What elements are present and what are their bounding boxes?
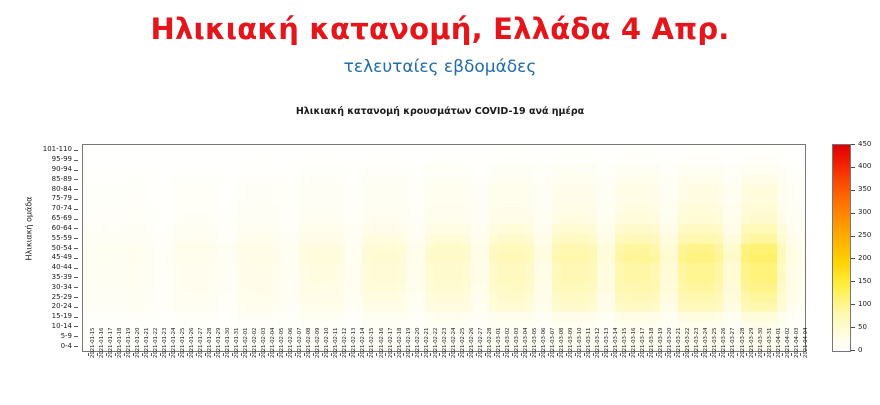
y-axis-tick-label: 65-69 [52, 215, 72, 222]
x-axis-tick [602, 353, 603, 356]
colorbar-tick-label: 200 [858, 255, 871, 262]
x-axis-tick-label: 2021-02-20 [415, 328, 421, 358]
x-axis-tick-label: 2021-01-27 [198, 328, 204, 358]
x-axis-tick [205, 353, 206, 356]
x-axis-tick [449, 353, 450, 356]
y-axis-tick-label: 5-9 [61, 333, 72, 340]
x-axis-tick-label: 2021-04-01 [776, 328, 782, 358]
y-axis-tick-label: 35-39 [52, 274, 72, 281]
x-axis-tick [304, 353, 305, 356]
y-axis-tick [74, 307, 78, 308]
colorbar-tick [851, 236, 855, 237]
x-axis-tick [521, 353, 522, 356]
x-axis-tick-label: 2021-01-24 [171, 328, 177, 358]
x-axis-tick [187, 353, 188, 356]
x-axis-tick [124, 353, 125, 356]
y-axis-tick [74, 160, 78, 161]
colorbar-tick-label: 100 [858, 301, 871, 308]
x-axis-tick [503, 353, 504, 356]
y-axis-tick [74, 209, 78, 210]
heatmap-figure: Ηλικιακή κατανομή κρουσμάτων COVID-19 αν… [0, 92, 880, 405]
y-axis-tick [74, 277, 78, 278]
colorbar-tick [851, 281, 855, 282]
x-axis-tick-label: 2021-02-22 [433, 328, 439, 358]
x-axis-tick [494, 353, 495, 356]
x-axis-tick-label: 2021-03-21 [676, 328, 682, 358]
x-axis-tick-label: 2021-03-12 [595, 328, 601, 358]
colorbar-tick [851, 327, 855, 328]
x-axis-tick-label: 2021-02-13 [351, 328, 357, 358]
colorbar-ticks: 050100150200250300350400450 [832, 144, 880, 352]
x-axis-tick-label: 2021-02-28 [487, 328, 493, 358]
x-axis-tick [629, 353, 630, 356]
x-axis-tick-label: 2021-01-20 [135, 328, 141, 358]
x-axis-tick [467, 353, 468, 356]
x-axis-tick-label: 2021-03-01 [496, 328, 502, 358]
colorbar-tick-label: 250 [858, 232, 871, 239]
colorbar-tick-label: 300 [858, 209, 871, 216]
colorbar-tick [851, 144, 855, 145]
x-axis-tick [800, 353, 801, 356]
x-axis-tick-label: 2021-03-13 [604, 328, 610, 358]
x-axis-tick-label: 2021-03-09 [568, 328, 574, 358]
y-axis-tick-label: 80-84 [52, 186, 72, 193]
colorbar-tick [851, 304, 855, 305]
x-axis-tick [439, 353, 440, 356]
x-axis-tick-label: 2021-01-25 [180, 328, 186, 358]
y-axis-tick-label: 70-74 [52, 205, 72, 212]
x-axis-tick-label: 2021-01-19 [126, 328, 132, 358]
y-axis-tick-label: 40-44 [52, 264, 72, 271]
x-axis-tick [620, 353, 621, 356]
y-axis-tick-label: 15-19 [52, 313, 72, 320]
x-axis-tick [394, 353, 395, 356]
x-axis-tick [746, 353, 747, 356]
x-axis-tick-label: 2021-02-17 [388, 328, 394, 358]
x-axis-tick-label: 2021-01-23 [162, 328, 168, 358]
x-axis-tick-label: 2021-02-26 [469, 328, 475, 358]
y-axis-tick [74, 150, 78, 151]
x-axis-tick-label: 2021-03-27 [730, 328, 736, 358]
x-axis-tick [241, 353, 242, 356]
x-axis-tick [674, 353, 675, 356]
colorbar-tick-label: 400 [858, 163, 871, 170]
y-axis-labels: 0-45-910-1415-1920-2425-2930-3435-3940-4… [0, 144, 78, 352]
y-axis-tick [74, 317, 78, 318]
colorbar-tick-label: 450 [858, 141, 871, 148]
x-axis-tick-label: 2021-03-04 [523, 328, 529, 358]
y-axis-tick [74, 248, 78, 249]
x-axis-tick-label: 2021-01-18 [117, 328, 123, 358]
x-axis-tick [638, 353, 639, 356]
colorbar-tick-label: 0 [858, 347, 862, 354]
x-axis-tick-label: 2021-03-16 [631, 328, 637, 358]
x-axis-tick [196, 353, 197, 356]
x-axis-tick-label: 2021-03-11 [586, 328, 592, 358]
y-axis-tick-label: 95-99 [52, 156, 72, 163]
x-axis-tick [151, 353, 152, 356]
x-axis-tick-label: 2021-03-19 [658, 328, 664, 358]
x-axis-tick-label: 2021-01-15 [90, 328, 96, 358]
x-axis-tick-label: 2021-02-25 [460, 328, 466, 358]
x-axis-tick [259, 353, 260, 356]
x-axis-tick [791, 353, 792, 356]
x-axis-tick-label: 2021-01-31 [234, 328, 240, 358]
x-axis-tick [412, 353, 413, 356]
x-axis-tick-label: 2021-02-07 [297, 328, 303, 358]
y-axis-tick-label: 0-4 [61, 343, 72, 350]
x-axis-tick [593, 353, 594, 356]
y-axis-tick [74, 258, 78, 259]
x-axis-tick [403, 353, 404, 356]
x-axis-tick-label: 2021-01-22 [153, 328, 159, 358]
x-axis-tick-label: 2021-02-04 [270, 328, 276, 358]
y-axis-tick [74, 346, 78, 347]
x-axis-tick-label: 2021-03-29 [749, 328, 755, 358]
x-axis-tick [530, 353, 531, 356]
chart-title: Ηλικιακή κατανομή κρουσμάτων COVID-19 αν… [0, 106, 880, 117]
x-axis-tick-label: 2021-03-18 [649, 328, 655, 358]
x-axis-tick [88, 353, 89, 356]
x-axis-tick-label: 2021-03-28 [740, 328, 746, 358]
x-axis-tick [295, 353, 296, 356]
x-axis-tick [773, 353, 774, 356]
x-axis-tick [557, 353, 558, 356]
colorbar-tick-label: 350 [858, 186, 871, 193]
x-axis-tick [485, 353, 486, 356]
x-axis-tick [97, 353, 98, 356]
x-axis-tick-label: 2021-02-14 [360, 328, 366, 358]
x-axis-tick [277, 353, 278, 356]
y-axis-tick-label: 50-54 [52, 245, 72, 252]
x-axis-tick-label: 2021-02-21 [424, 328, 430, 358]
x-axis-tick [647, 353, 648, 356]
x-axis-tick-label: 2021-01-16 [99, 328, 105, 358]
colorbar-tick [851, 213, 855, 214]
x-axis-tick-label: 2021-01-29 [216, 328, 222, 358]
x-axis-tick [133, 353, 134, 356]
x-axis-tick [421, 353, 422, 356]
x-axis-tick [232, 353, 233, 356]
x-axis-tick [223, 353, 224, 356]
x-axis-tick-label: 2021-01-30 [225, 328, 231, 358]
colorbar-tick-label: 50 [858, 324, 867, 331]
y-axis-tick-label: 45-49 [52, 254, 72, 261]
y-axis-tick-label: 85-89 [52, 176, 72, 183]
x-axis-tick-label: 2021-03-15 [622, 328, 628, 358]
x-axis-tick [385, 353, 386, 356]
x-axis-tick [169, 353, 170, 356]
x-axis-tick-label: 2021-03-08 [559, 328, 565, 358]
x-axis-tick-label: 2021-03-07 [550, 328, 556, 358]
x-axis-tick-label: 2021-04-02 [785, 328, 791, 358]
x-axis-tick-label: 2021-02-08 [306, 328, 312, 358]
x-axis-tick-label: 2021-02-18 [397, 328, 403, 358]
x-axis-tick-label: 2021-04-03 [794, 328, 800, 358]
x-axis-tick-label: 2021-03-26 [721, 328, 727, 358]
x-axis-labels: 2021-01-152021-01-162021-01-172021-01-18… [82, 353, 806, 405]
y-axis-tick-label: 90-94 [52, 166, 72, 173]
x-axis-tick-label: 2021-03-30 [758, 328, 764, 358]
y-axis-tick [74, 336, 78, 337]
y-axis-tick-label: 101-110 [43, 146, 72, 153]
x-axis-tick [430, 353, 431, 356]
y-axis-tick [74, 287, 78, 288]
y-axis-tick [74, 199, 78, 200]
x-axis-tick-label: 2021-02-24 [451, 328, 457, 358]
x-axis-tick-label: 2021-02-19 [406, 328, 412, 358]
heatmap-canvas [83, 145, 805, 351]
x-axis-tick-label: 2021-03-10 [577, 328, 583, 358]
x-axis-tick-label: 2021-02-01 [243, 328, 249, 358]
x-axis-tick [313, 353, 314, 356]
x-axis-tick-label: 2021-01-28 [207, 328, 213, 358]
x-axis-tick-label: 2021-03-17 [640, 328, 646, 358]
x-axis-tick [322, 353, 323, 356]
x-axis-tick [566, 353, 567, 356]
x-axis-tick-label: 2021-04-04 [803, 328, 809, 358]
x-axis-tick-label: 2021-03-23 [694, 328, 700, 358]
x-axis-tick [142, 353, 143, 356]
x-axis-tick [512, 353, 513, 356]
x-axis-tick [755, 353, 756, 356]
y-axis-tick-label: 30-34 [52, 284, 72, 291]
colorbar-tick [851, 167, 855, 168]
colorbar-tick [851, 258, 855, 259]
x-axis-tick-label: 2021-02-15 [369, 328, 375, 358]
x-axis-tick [250, 353, 251, 356]
x-axis-tick-label: 2021-02-05 [279, 328, 285, 358]
heatmap-plot-area [82, 144, 806, 352]
y-axis-tick [74, 297, 78, 298]
x-axis-tick-label: 2021-02-16 [379, 328, 385, 358]
x-axis-tick-label: 2021-01-21 [144, 328, 150, 358]
x-axis-tick [458, 353, 459, 356]
x-axis-tick-label: 2021-02-03 [261, 328, 267, 358]
y-axis-tick-label: 10-14 [52, 323, 72, 330]
x-axis-tick-label: 2021-03-06 [541, 328, 547, 358]
slide-root: Ηλικιακή κατανομή, Ελλάδα 4 Απρ. τελευτα… [0, 0, 880, 405]
x-axis-tick-label: 2021-03-31 [767, 328, 773, 358]
y-axis-tick [74, 228, 78, 229]
slide-subtitle: τελευταίες εβδομάδες [0, 57, 880, 77]
x-axis-tick [539, 353, 540, 356]
y-axis-tick-label: 25-29 [52, 294, 72, 301]
x-axis-tick [656, 353, 657, 356]
x-axis-tick-label: 2021-03-14 [613, 328, 619, 358]
x-axis-tick [683, 353, 684, 356]
y-axis-tick [74, 189, 78, 190]
x-axis-tick [178, 353, 179, 356]
slide-title: Ηλικιακή κατανομή, Ελλάδα 4 Απρ. [0, 12, 880, 46]
x-axis-tick [665, 353, 666, 356]
y-axis-tick-label: 60-64 [52, 225, 72, 232]
x-axis-tick-label: 2021-02-11 [333, 328, 339, 358]
y-axis-tick [74, 268, 78, 269]
y-axis-tick-label: 55-59 [52, 235, 72, 242]
x-axis-tick-label: 2021-03-22 [685, 328, 691, 358]
x-axis-tick [764, 353, 765, 356]
x-axis-tick-label: 2021-03-05 [532, 328, 538, 358]
colorbar-tick [851, 190, 855, 191]
x-axis-tick [286, 353, 287, 356]
x-axis-tick-label: 2021-01-26 [189, 328, 195, 358]
x-axis-tick-label: 2021-02-27 [478, 328, 484, 358]
x-axis-tick-label: 2021-02-06 [288, 328, 294, 358]
x-axis-tick-label: 2021-03-20 [667, 328, 673, 358]
x-axis-tick-label: 2021-03-03 [514, 328, 520, 358]
x-axis-tick-label: 2021-01-17 [108, 328, 114, 358]
x-axis-tick [160, 353, 161, 356]
x-axis-tick [214, 353, 215, 356]
x-axis-tick-label: 2021-02-02 [252, 328, 258, 358]
x-axis-tick-label: 2021-02-12 [342, 328, 348, 358]
y-axis-tick-label: 20-24 [52, 303, 72, 310]
x-axis-tick-label: 2021-02-23 [442, 328, 448, 358]
x-axis-tick-label: 2021-03-02 [505, 328, 511, 358]
y-axis-tick [74, 170, 78, 171]
x-axis-tick [611, 353, 612, 356]
colorbar-tick-label: 150 [858, 278, 871, 285]
x-axis-tick [737, 353, 738, 356]
x-axis-tick-label: 2021-02-10 [324, 328, 330, 358]
x-axis-tick [115, 353, 116, 356]
y-axis-tick [74, 179, 78, 180]
y-axis-tick [74, 238, 78, 239]
x-axis-tick [782, 353, 783, 356]
x-axis-tick [106, 353, 107, 356]
colorbar-tick [851, 350, 855, 351]
x-axis-tick [584, 353, 585, 356]
x-axis-tick [376, 353, 377, 356]
x-axis-tick-label: 2021-02-09 [315, 328, 321, 358]
x-axis-tick-label: 2021-03-24 [703, 328, 709, 358]
y-axis-tick-label: 75-79 [52, 195, 72, 202]
y-axis-tick [74, 326, 78, 327]
x-axis-tick [575, 353, 576, 356]
x-axis-tick [548, 353, 549, 356]
x-axis-tick-label: 2021-03-25 [712, 328, 718, 358]
x-axis-tick [268, 353, 269, 356]
y-axis-tick [74, 219, 78, 220]
x-axis-tick [476, 353, 477, 356]
